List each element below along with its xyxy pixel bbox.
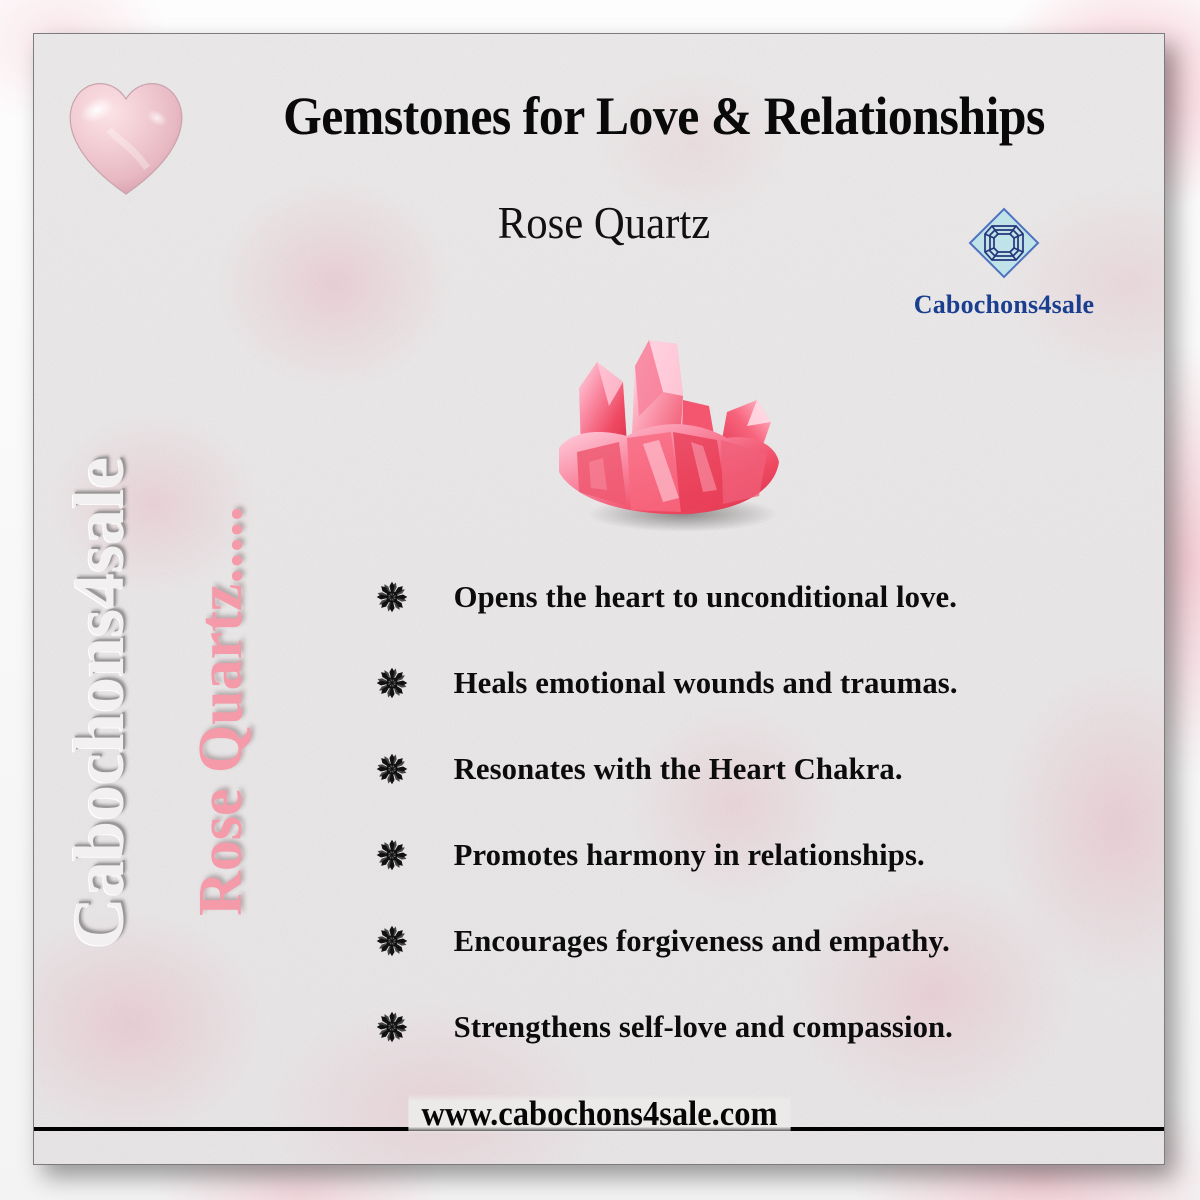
footer-url-text: www.cabochons4sale.com (409, 1094, 791, 1134)
footer-url[interactable]: www.cabochons4sale.com (34, 1094, 1165, 1134)
flower-rosette-icon (364, 838, 420, 872)
gemstone-name: Rose Quartz (348, 197, 861, 249)
list-item: Strengthens self-love and compassion. (364, 984, 1104, 1070)
flower-rosette-icon (364, 666, 420, 700)
brand-name: Cabochons4sale (889, 290, 1119, 320)
list-item: Resonates with the Heart Chakra. (364, 726, 1104, 812)
list-item: Encourages forgiveness and empathy. (364, 898, 1104, 984)
flower-rosette-icon (364, 752, 420, 786)
page-title: Gemstones for Love & Relationships (222, 89, 1105, 143)
list-item-label: Heals emotional wounds and traumas. (420, 665, 958, 701)
list-item-label: Resonates with the Heart Chakra. (420, 751, 903, 787)
benefit-list: Opens the heart to unconditional love. H… (364, 554, 1104, 1070)
flower-rosette-icon (364, 580, 420, 614)
list-item: Opens the heart to unconditional love. (364, 554, 1104, 640)
vertical-gemstone-watermark: Rose Quartz..... (186, 506, 257, 916)
list-item: Promotes harmony in relationships. (364, 812, 1104, 898)
diamond-gem-icon (965, 204, 1043, 282)
list-item: Heals emotional wounds and traumas. (364, 640, 1104, 726)
rose-quartz-crystal-cluster-icon (531, 266, 831, 566)
vertical-brand-watermark: Cabochons4sale (58, 457, 141, 949)
brand-logo[interactable]: Cabochons4sale (889, 204, 1119, 320)
flower-rosette-icon (364, 1010, 420, 1044)
list-item-label: Encourages forgiveness and empathy. (420, 923, 950, 959)
flower-rosette-icon (364, 924, 420, 958)
info-card-panel: Gemstones for Love & Relationships Rose … (33, 33, 1165, 1165)
list-item-label: Strengthens self-love and compassion. (420, 1009, 953, 1045)
rose-quartz-heart-cabochon-icon (61, 72, 191, 200)
list-item-label: Opens the heart to unconditional love. (420, 579, 957, 615)
list-item-label: Promotes harmony in relationships. (420, 837, 925, 873)
